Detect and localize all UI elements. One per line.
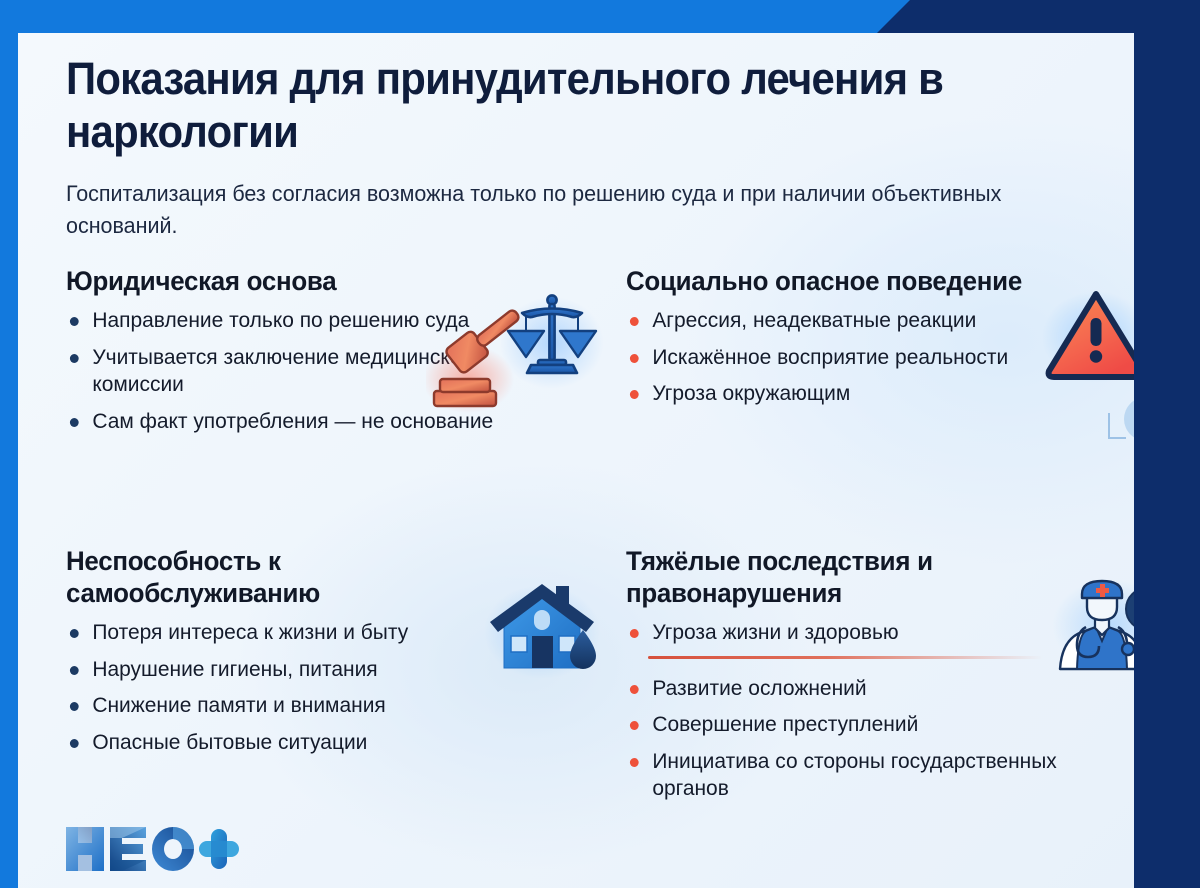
bullet-dot-icon xyxy=(70,702,79,711)
block-list-consequences: Угроза жизни и здоровью xyxy=(626,619,1096,647)
bullet-dot-icon xyxy=(70,739,79,748)
bullet-dot-icon xyxy=(70,666,79,675)
right-navy-bar xyxy=(1168,0,1200,888)
list-item-text: Снижение памяти и внимания xyxy=(92,693,385,717)
block-selfcare: Неспособность к самообслуживанию Потеря … xyxy=(66,545,536,765)
red-divider xyxy=(648,656,1043,659)
list-item-text: Совершение преступлений xyxy=(652,712,918,736)
bullet-dot-icon xyxy=(630,721,639,730)
bullet-dot-icon xyxy=(630,758,639,767)
list-item: Развитие осложнений xyxy=(626,675,1084,703)
bullet-dot-icon xyxy=(70,418,79,427)
block-list-selfcare: Потеря интереса к жизни и быту Нарушение… xyxy=(66,619,536,756)
bullet-dot-icon xyxy=(70,629,79,638)
corner-bracket-decoration xyxy=(1108,413,1126,439)
page-title: Показания для принудительного лечения в … xyxy=(66,53,959,158)
bullet-dot-icon xyxy=(630,317,639,326)
poster-content-area: Показания для принудительного лечения в … xyxy=(18,33,1168,888)
block-list-consequences-2: Развитие осложнений Совершение преступле… xyxy=(626,675,1096,803)
list-item: Угроза жизни и здоровью xyxy=(626,619,1084,647)
bullet-dot-icon xyxy=(630,629,639,638)
list-item-text: Угроза жизни и здоровью xyxy=(652,620,898,644)
list-item-text: Инициатива со стороны государственных ор… xyxy=(652,749,1056,801)
list-item: Снижение памяти и внимания xyxy=(66,692,524,720)
list-item: Опасные бытовые ситуации xyxy=(66,729,524,757)
block-title-social: Социально опасное поведение xyxy=(626,265,1077,297)
list-item-text: Направление только по решению суда xyxy=(92,308,469,332)
house-icon xyxy=(484,578,602,683)
bullet-dot-icon xyxy=(70,354,79,363)
list-item: Потеря интереса к жизни и быту xyxy=(66,619,524,647)
list-item: Инициатива со стороны государственных ор… xyxy=(626,748,1084,803)
list-item: Агрессия, неадекватные реакции xyxy=(626,307,1084,335)
list-item-text: Учитывается заключение медицинской комис… xyxy=(92,345,473,397)
gavel-and-scales-icon xyxy=(426,291,606,421)
list-item-text: Угроза окружающим xyxy=(652,381,850,405)
block-title-selfcare: Неспособность к самообслуживанию xyxy=(66,545,517,609)
block-consequences: Тяжёлые последствия и правонарушения Угр… xyxy=(626,545,1096,812)
list-item-text: Нарушение гигиены, питания xyxy=(92,657,377,681)
list-item-text: Опасные бытовые ситуации xyxy=(92,730,367,754)
block-title-consequences: Тяжёлые последствия и правонарушения xyxy=(626,545,1077,609)
bullet-dot-icon xyxy=(70,317,79,326)
infographic-poster: Показания для принудительного лечения в … xyxy=(0,0,1200,888)
bullet-dot-icon xyxy=(630,390,639,399)
bullet-dot-icon xyxy=(630,685,639,694)
list-item-text: Потеря интереса к жизни и быту xyxy=(92,620,408,644)
list-item: Нарушение гигиены, питания xyxy=(66,656,524,684)
block-list-social: Агрессия, неадекватные реакции Искажённо… xyxy=(626,307,1096,408)
list-item: Совершение преступлений xyxy=(626,711,1084,739)
block-social: Социально опасное поведение Агрессия, не… xyxy=(626,265,1096,417)
list-item: Искажённое восприятие реальности xyxy=(626,344,1084,372)
list-item-text: Искажённое восприятие реальности xyxy=(652,345,1008,369)
warning-triangle-icon xyxy=(1042,285,1150,388)
doctor-icon xyxy=(1052,575,1168,676)
pie-chart-decoration xyxy=(1124,397,1168,441)
bullet-dot-icon xyxy=(630,354,639,363)
page-subtitle: Госпитализация без согласия возможна тол… xyxy=(66,178,1002,242)
brand-logo xyxy=(64,823,244,875)
list-item-text: Развитие осложнений xyxy=(652,676,866,700)
list-item: Угроза окружающим xyxy=(626,380,1084,408)
list-item-text: Агрессия, неадекватные реакции xyxy=(652,308,976,332)
tick-decoration xyxy=(1144,451,1146,469)
